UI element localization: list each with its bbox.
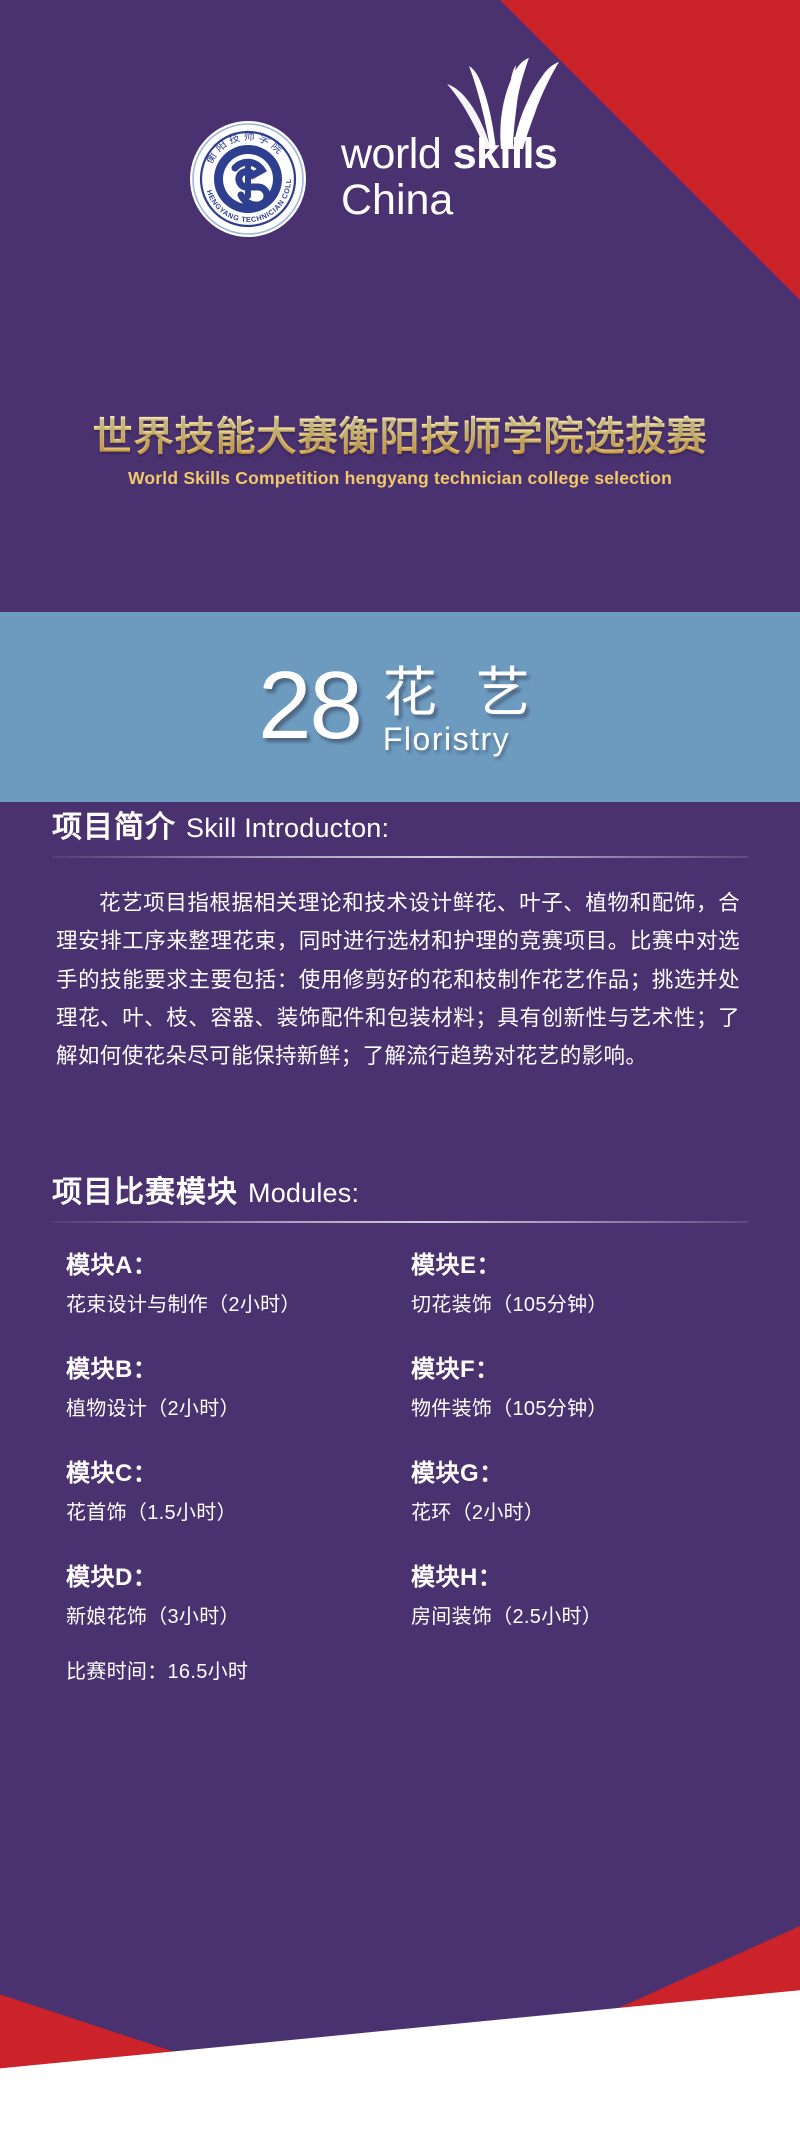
poster-header: 衡阳技师学院 HENGYANG TECHNICIAN COLLEGE <box>0 0 800 590</box>
worldskills-china-logo: world skills China <box>341 133 611 224</box>
module-item: 模块C： 花首饰（1.5小时） <box>66 1453 403 1525</box>
module-label: 模块H： <box>411 1557 748 1592</box>
module-description: 花束设计与制作（2小时） <box>66 1288 403 1317</box>
module-item: 模块F： 物件装饰（105分钟） <box>411 1349 748 1421</box>
skill-number: 28 <box>258 660 361 752</box>
module-description: 物件装饰（105分钟） <box>411 1392 748 1421</box>
module-description: 花首饰（1.5小时） <box>66 1496 403 1525</box>
module-item: 模块H： 房间装饰（2.5小时） <box>411 1557 748 1629</box>
module-description: 房间装饰（2.5小时） <box>411 1600 748 1629</box>
module-description: 花环（2小时） <box>411 1496 748 1525</box>
skill-introduction-heading: 项目简介 Skill Introducton: <box>52 802 748 856</box>
skill-name-chinese: 花 艺 <box>383 666 542 720</box>
module-item: 模块G： 花环（2小时） <box>411 1453 748 1525</box>
skill-introduction-heading-chinese: 项目简介 <box>52 802 176 846</box>
module-label: 模块C： <box>66 1453 403 1488</box>
module-item: 模块D： 新娘花饰（3小时） <box>66 1557 403 1629</box>
module-item: 模块A： 花束设计与制作（2小时） <box>66 1245 403 1317</box>
module-label: 模块D： <box>66 1557 403 1592</box>
worldskills-word-world: world <box>341 130 441 178</box>
module-item: 模块B： 植物设计（2小时） <box>66 1349 403 1421</box>
section-divider-rule <box>52 856 748 858</box>
skill-introduction-heading-english: Skill Introducton: <box>186 813 389 844</box>
event-title-chinese: 世界技能大赛衡阳技师学院选拔赛 <box>0 404 800 462</box>
module-description: 新娘花饰（3小时） <box>66 1600 403 1629</box>
module-description: 切花装饰（105分钟） <box>411 1288 748 1317</box>
module-item: 模块E： 切花装饰（105分钟） <box>411 1245 748 1317</box>
logo-row: 衡阳技师学院 HENGYANG TECHNICIAN COLLEGE <box>0 120 800 238</box>
module-label: 模块B： <box>66 1349 403 1384</box>
poster-content: 项目简介 Skill Introducton: 花艺项目指根据相关理论和技术设计… <box>0 802 800 1684</box>
module-label: 模块G： <box>411 1453 748 1488</box>
skill-identity-band: 28 花 艺 Floristry <box>0 612 800 802</box>
module-label: 模块E： <box>411 1245 748 1280</box>
module-label: 模块F： <box>411 1349 748 1384</box>
modules-grid: 模块A： 花束设计与制作（2小时） 模块E： 切花装饰（105分钟） 模块B： … <box>52 1245 748 1684</box>
modules-heading-english: Modules: <box>248 1178 359 1209</box>
worldskills-flame-mark-icon <box>443 57 563 149</box>
section-divider-rule <box>52 1221 748 1223</box>
modules-heading: 项目比赛模块 Modules: <box>52 1167 748 1221</box>
module-label: 模块A： <box>66 1245 403 1280</box>
worldskills-word-china: China <box>341 177 611 224</box>
skill-introduction-body: 花艺项目指根据相关理论和技术设计鲜花、叶子、植物和配饰，合理安排工序来整理花束，… <box>52 884 748 1075</box>
skill-name-english: Floristry <box>383 722 542 757</box>
poster-root: 衡阳技师学院 HENGYANG TECHNICIAN COLLEGE <box>0 0 800 2133</box>
skill-introduction-section: 项目简介 Skill Introducton: 花艺项目指根据相关理论和技术设计… <box>0 802 800 1075</box>
event-title-english: World Skills Competition hengyang techni… <box>0 468 800 489</box>
event-title-block: 世界技能大赛衡阳技师学院选拔赛 World Skills Competition… <box>0 404 800 489</box>
modules-section: 项目比赛模块 Modules: 模块A： 花束设计与制作（2小时） 模块E： 切… <box>0 1167 800 1684</box>
hengyang-technician-college-seal-icon: 衡阳技师学院 HENGYANG TECHNICIAN COLLEGE <box>189 120 307 238</box>
modules-heading-chinese: 项目比赛模块 <box>52 1167 238 1211</box>
total-competition-time: 比赛时间：16.5小时 <box>66 1655 403 1684</box>
module-description: 植物设计（2小时） <box>66 1392 403 1421</box>
